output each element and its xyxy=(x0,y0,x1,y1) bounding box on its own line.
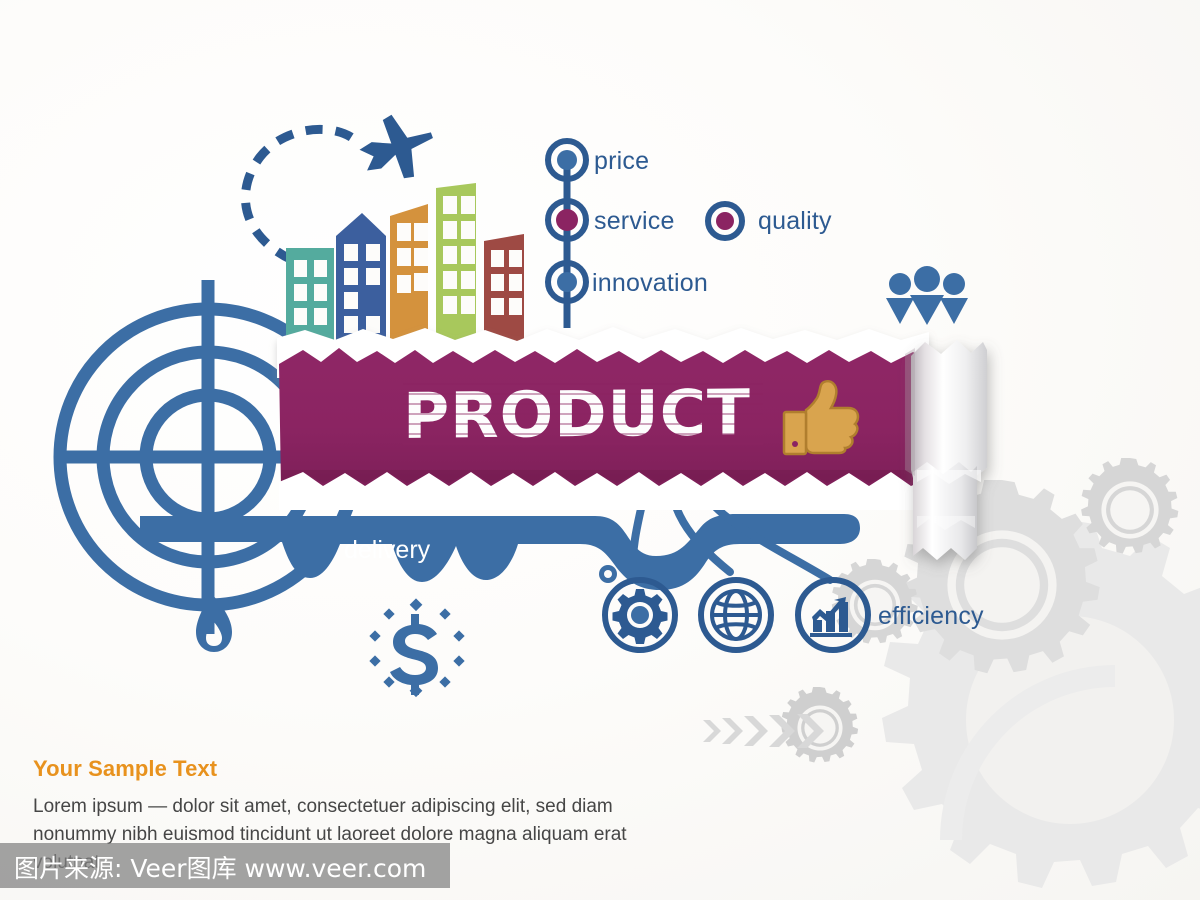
city-skyline-group xyxy=(286,168,536,343)
banner-title: PRODUCT xyxy=(403,376,751,453)
watermark-bar: 图片来源: Veer图库 www.veer.com xyxy=(0,843,450,888)
gear-icon-button[interactable] xyxy=(600,575,680,655)
timeline-marker-innovation[interactable] xyxy=(545,260,591,306)
label-price: price xyxy=(594,147,649,176)
label-efficiency: efficiency xyxy=(878,602,984,631)
label-service: service xyxy=(594,207,675,236)
building-green xyxy=(436,183,476,343)
label-innovation: innovation xyxy=(592,269,708,298)
gear-icon-small-3 xyxy=(781,687,858,762)
thumbs-up-icon xyxy=(778,376,862,454)
people-group-icon xyxy=(884,268,970,326)
globe-icon-button[interactable] xyxy=(696,575,776,655)
growth-chart-icon-button[interactable] xyxy=(793,575,873,655)
footer-heading: Your Sample Text xyxy=(33,756,217,782)
timeline-marker-price[interactable] xyxy=(545,138,591,184)
watermark-text: 图片来源: Veer图库 www.veer.com xyxy=(14,849,426,885)
dollar-sign-icon xyxy=(365,600,471,696)
label-quality: quality xyxy=(758,207,832,236)
timeline-marker-service[interactable] xyxy=(545,198,591,244)
infographic-canvas: price service innovation quality deliver… xyxy=(0,0,1200,900)
paper-curl-roll xyxy=(911,340,987,560)
marker-quality[interactable] xyxy=(704,200,746,242)
